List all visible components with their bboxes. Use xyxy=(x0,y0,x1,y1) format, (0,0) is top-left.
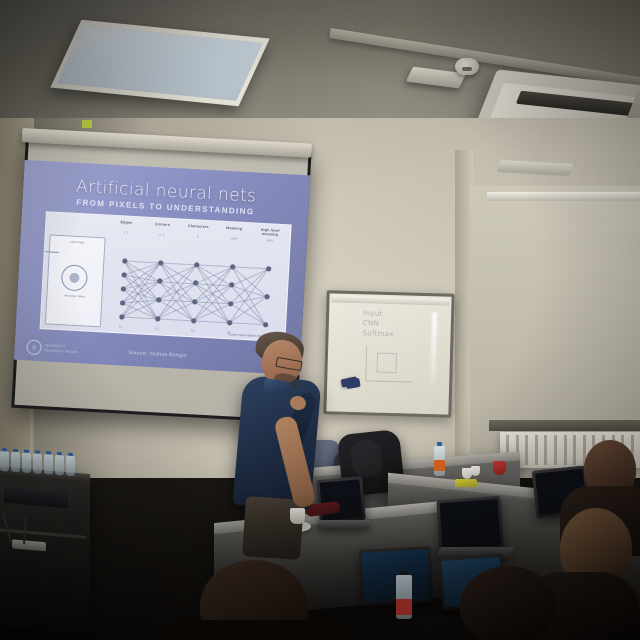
network-edge xyxy=(229,322,265,325)
figure-column-header: Characters xyxy=(180,223,216,229)
network-node xyxy=(121,272,126,277)
water-bottle[interactable] xyxy=(44,454,53,475)
figure-feature-thumbnail: A xyxy=(180,233,216,239)
laptop-student-1[interactable] xyxy=(438,498,512,558)
water-bottle[interactable] xyxy=(0,451,9,472)
logo-mark-icon: ◎ xyxy=(26,339,42,355)
network-node xyxy=(194,262,199,267)
slide-logo-left: ◎ UNIVERSITY RESEARCH GROUP xyxy=(26,339,78,357)
network-node xyxy=(157,278,162,283)
logo-text-line-2: RESEARCH GROUP xyxy=(44,348,77,354)
figure-feature-thumbnail: ╱ ╲ xyxy=(108,230,144,236)
network-node xyxy=(228,301,233,306)
water-bottle[interactable] xyxy=(33,453,42,474)
network-node xyxy=(264,294,269,299)
network-node xyxy=(155,316,160,321)
lecture-room-photo: Artificial neural nets FROM PIXELS TO UN… xyxy=(0,0,640,640)
input-image-box: Input image raw pixels / retina xyxy=(45,234,106,327)
yellow-item[interactable] xyxy=(455,479,477,487)
radiator-fin xyxy=(554,435,557,465)
network-node xyxy=(227,320,232,325)
network-node xyxy=(230,264,235,269)
network-node xyxy=(120,300,125,305)
network-edge xyxy=(193,320,229,323)
network-node xyxy=(193,280,198,285)
figure-feature-thumbnail: ∠ ∠ xyxy=(144,232,180,238)
figure-column-header: High level meaning xyxy=(252,227,288,237)
bottle-cap-icon xyxy=(437,442,443,446)
whiteboard-sketch xyxy=(365,346,413,382)
network-edge xyxy=(157,318,193,321)
radiator-fin xyxy=(535,435,538,465)
laptop-lid xyxy=(436,496,503,552)
figure-layer-label: L1 xyxy=(103,323,139,329)
whiteboard-glare xyxy=(430,312,437,384)
whiteboard-line-3: Softmax xyxy=(362,329,424,341)
network-node xyxy=(263,322,268,327)
radiator-fin xyxy=(564,435,567,465)
input-box-label: Input image xyxy=(54,240,100,246)
whiteboard-tray xyxy=(331,295,449,305)
presenter-legs xyxy=(242,496,304,560)
blind-headrail[interactable] xyxy=(487,192,640,201)
network-equipment-rack xyxy=(0,466,90,634)
figure-column-header: Meaning xyxy=(216,225,252,231)
network-columns: EdgesCornersCharactersMeaningHigh level … xyxy=(103,218,289,340)
network-edge xyxy=(232,266,268,269)
network-node xyxy=(229,282,234,287)
window-recess xyxy=(470,186,640,454)
bottle-label xyxy=(434,460,445,471)
radiator-fin xyxy=(573,435,576,465)
radiator-fin xyxy=(525,435,528,465)
bottle-cap-icon xyxy=(400,571,408,575)
laptop-base[interactable] xyxy=(316,520,371,529)
laptop-lid xyxy=(316,476,366,524)
whiteboard[interactable]: Input CNN Softmax xyxy=(323,290,454,418)
water-bottle[interactable] xyxy=(434,446,445,476)
eye-icon xyxy=(61,264,88,291)
figure-layer-label: L3 xyxy=(175,327,211,333)
figure-feature-thumbnail: idea xyxy=(252,237,288,243)
window-sill xyxy=(489,420,640,431)
student-body-foreground xyxy=(150,620,360,640)
wireless-router[interactable] xyxy=(12,539,46,551)
rack-shelf xyxy=(0,528,86,539)
figure-layer-label: L2 xyxy=(139,325,175,331)
red-cup[interactable] xyxy=(493,461,506,475)
water-bottle[interactable] xyxy=(396,575,412,619)
figure-column-header: Corners xyxy=(144,222,180,228)
neural-net-figure: Input image raw pixels / retina EdgesCor… xyxy=(40,211,292,342)
bottle-label xyxy=(396,599,412,615)
water-bottle[interactable] xyxy=(11,452,20,473)
network-node xyxy=(158,260,163,265)
water-bottle[interactable] xyxy=(66,456,75,477)
figure-column-header: Edges xyxy=(108,220,144,226)
network-node xyxy=(266,266,271,271)
network-node xyxy=(191,318,196,323)
radiator-fin xyxy=(544,435,547,465)
network-node xyxy=(156,297,161,302)
whiteboard-writing: Input CNN Softmax xyxy=(362,308,425,340)
water-bottle[interactable] xyxy=(22,452,31,473)
student-head-center xyxy=(460,566,556,640)
sticky-note[interactable] xyxy=(82,120,92,128)
laptop-screen xyxy=(439,499,500,549)
network-node xyxy=(122,258,127,263)
white-cup[interactable] xyxy=(471,466,480,476)
espresso-cup[interactable] xyxy=(290,508,305,524)
network-node xyxy=(192,299,197,304)
network-node xyxy=(119,314,124,319)
input-box-sublabel: raw pixels / retina xyxy=(51,294,97,300)
slide-logo-text: UNIVERSITY RESEARCH GROUP xyxy=(44,344,78,354)
rack-device[interactable] xyxy=(4,487,68,509)
network-node xyxy=(120,286,125,291)
water-bottle[interactable] xyxy=(55,455,64,476)
figure-feature-thumbnail: word xyxy=(216,235,252,241)
